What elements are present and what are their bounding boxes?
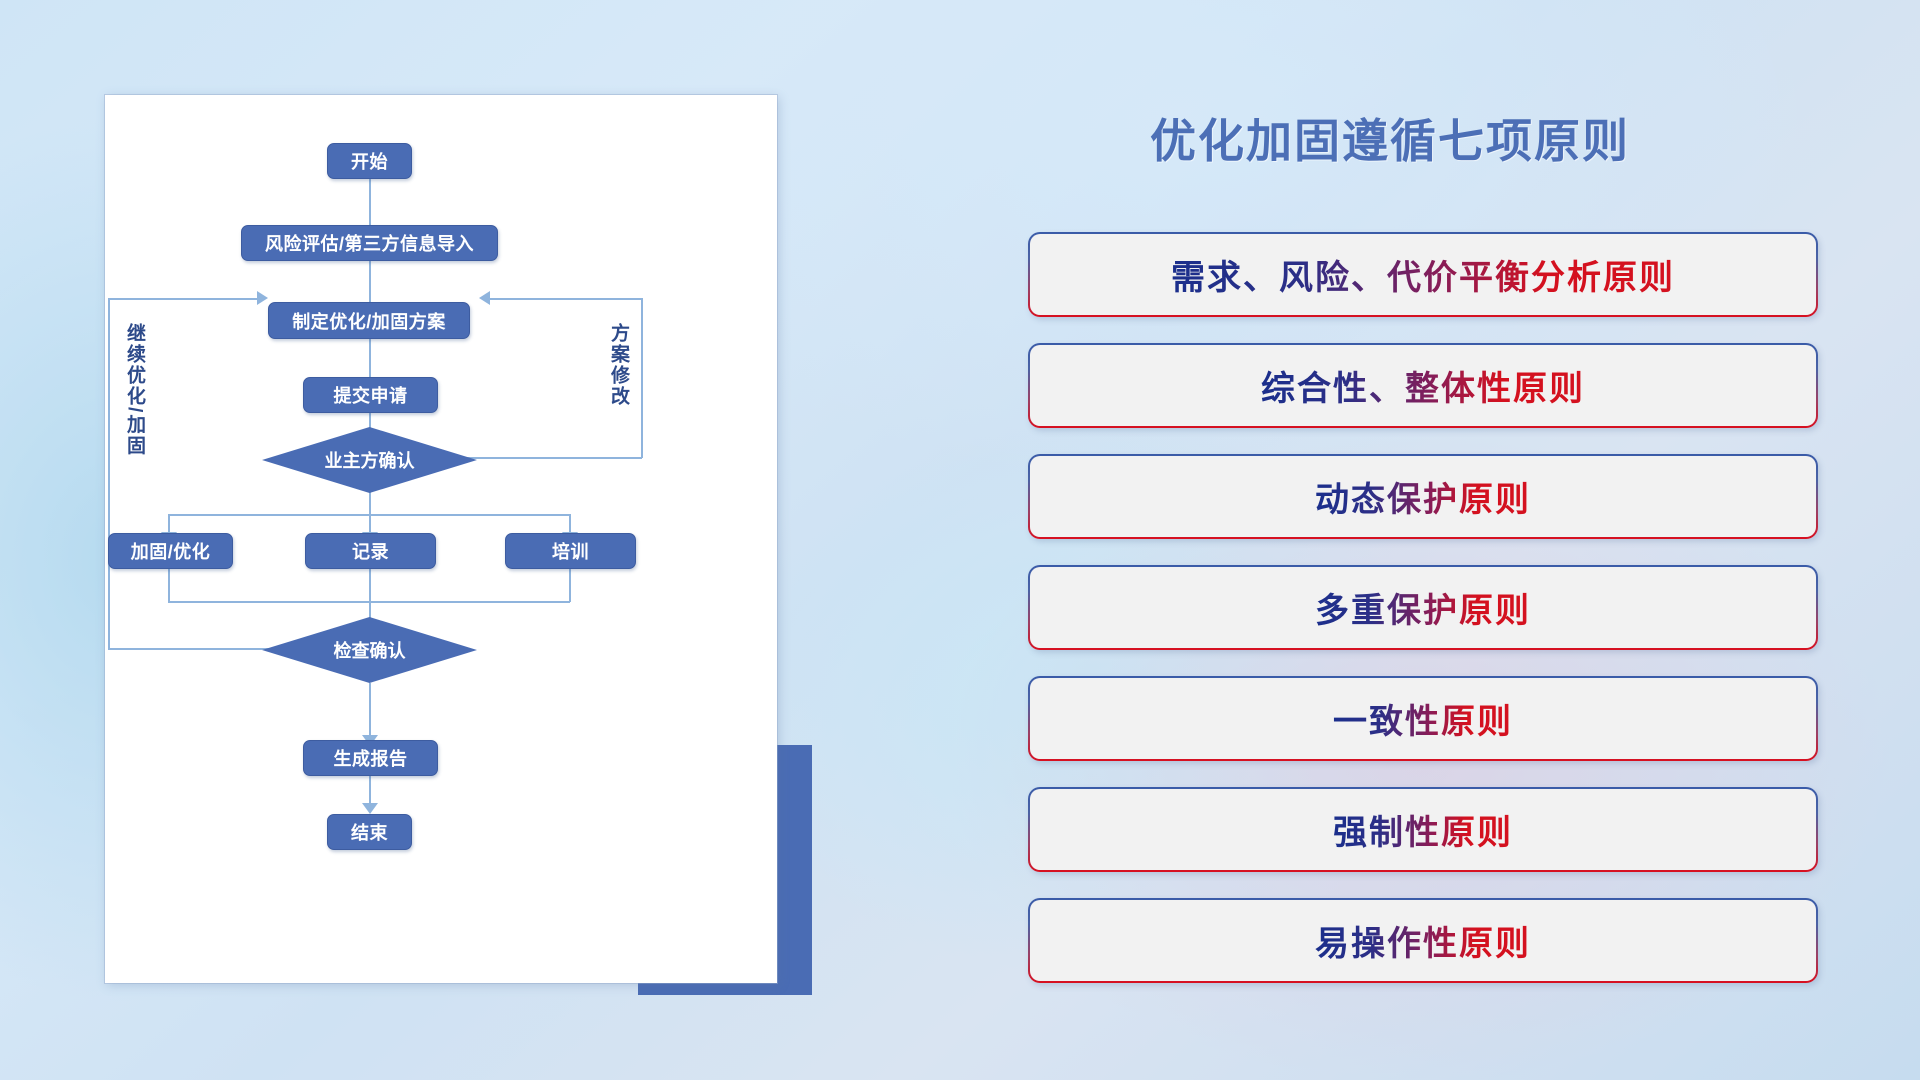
principle-list: 需求、风险、代价平衡分析原则 综合性、整体性原则 动态保护原则 多重保护原则 一… (1028, 232, 1818, 1009)
flow-node-owner-confirm[interactable]: 业主方确认 (262, 427, 477, 493)
connector-reinf-down (168, 568, 170, 602)
arrow-right-loop-into-plan (479, 291, 490, 305)
flowchart-card: 开始 风险评估/第三方信息导入 制定优化/加固方案 提交申请 业主方确认 加固/… (105, 95, 777, 983)
principle-card-inner: 多重保护原则 (1030, 567, 1816, 648)
flow-node-submit-application[interactable]: 提交申请 (303, 377, 438, 413)
arrow-left-loop-into-plan (257, 291, 268, 305)
connector-right-loop-top (489, 298, 642, 300)
connector-right-loop-bottom (462, 457, 642, 459)
page-title: 优化加固遵循七项原则 (1150, 105, 1630, 171)
principle-card[interactable]: 一致性原则 (1028, 676, 1818, 761)
principle-label: 动态保护原则 (1315, 472, 1531, 521)
principle-card[interactable]: 综合性、整体性原则 (1028, 343, 1818, 428)
connector-owner-bus-drop (369, 491, 371, 515)
connector-right-loop-vertical (641, 298, 643, 458)
flow-node-label: 加固/优化 (131, 538, 211, 564)
principle-label: 一致性原则 (1333, 694, 1513, 743)
flow-node-risk-assessment[interactable]: 风险评估/第三方信息导入 (241, 225, 498, 261)
principle-card[interactable]: 需求、风险、代价平衡分析原则 (1028, 232, 1818, 317)
principle-label: 需求、风险、代价平衡分析原则 (1171, 250, 1675, 299)
connector-record-down (369, 568, 371, 602)
flow-node-label: 结束 (351, 819, 388, 845)
principle-card-inner: 强制性原则 (1030, 789, 1816, 870)
principle-card-inner: 易操作性原则 (1030, 900, 1816, 981)
principle-label: 易操作性原则 (1315, 916, 1531, 965)
flow-node-check-confirm[interactable]: 检查确认 (262, 617, 477, 683)
connector-left-loop-top (108, 298, 261, 300)
principle-label: 强制性原则 (1333, 805, 1513, 854)
flow-node-plan[interactable]: 制定优化/加固方案 (268, 302, 470, 339)
flow-node-label: 培训 (552, 538, 589, 564)
flow-node-training[interactable]: 培训 (505, 533, 636, 569)
flow-node-label: 生成报告 (334, 745, 408, 771)
flow-node-generate-report[interactable]: 生成报告 (303, 740, 438, 776)
principle-label: 综合性、整体性原则 (1261, 361, 1585, 410)
principle-card-inner: 需求、风险、代价平衡分析原则 (1030, 234, 1816, 315)
flow-node-label: 提交申请 (334, 382, 408, 408)
principle-label: 多重保护原则 (1315, 583, 1531, 632)
flow-node-start[interactable]: 开始 (327, 143, 412, 179)
connector-left-loop-bottom (108, 648, 286, 650)
loop-label-continue-optimize: 继续优化/加固 (121, 323, 148, 456)
principle-card[interactable]: 多重保护原则 (1028, 565, 1818, 650)
connector-left-loop-vertical (108, 298, 110, 649)
arrow-report-end (362, 803, 378, 814)
principle-card-inner: 综合性、整体性原则 (1030, 345, 1816, 426)
flow-node-record[interactable]: 记录 (305, 533, 436, 569)
loop-label-plan-revision: 方案修改 (605, 323, 632, 407)
flow-node-label: 检查确认 (334, 637, 406, 663)
flow-node-label: 制定优化/加固方案 (292, 308, 446, 334)
flow-node-end[interactable]: 结束 (327, 814, 412, 850)
flow-node-label: 风险评估/第三方信息导入 (265, 230, 474, 256)
connector-check-report (369, 683, 371, 741)
principle-card[interactable]: 强制性原则 (1028, 787, 1818, 872)
flow-node-label: 开始 (351, 148, 388, 174)
principle-card[interactable]: 动态保护原则 (1028, 454, 1818, 539)
principle-card-inner: 动态保护原则 (1030, 456, 1816, 537)
flow-node-reinforce-optimize[interactable]: 加固/优化 (108, 533, 233, 569)
principle-card-inner: 一致性原则 (1030, 678, 1816, 759)
flow-node-label: 业主方确认 (325, 447, 415, 473)
principle-card[interactable]: 易操作性原则 (1028, 898, 1818, 983)
flow-node-label: 记录 (352, 538, 389, 564)
connector-train-down (569, 568, 571, 602)
